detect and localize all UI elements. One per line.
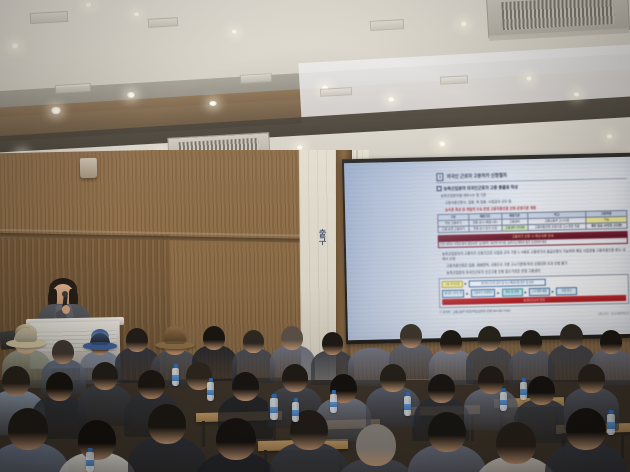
slide-paragraph: 농축산업분야의 고용허가 신청기간은 사업장 규모 기준 1~4회로 고용허가서…: [442, 247, 628, 261]
audience-hat: [164, 326, 186, 344]
bottle-label: [207, 390, 214, 396]
slide-table: 구분 제출기간 제출기관 비고 고용허용 일반 고용허가 연중 상시 (매월 1…: [437, 210, 627, 233]
table-cell: 일반 고용허가: [438, 220, 469, 227]
audience-head: [360, 328, 383, 353]
flow-step-box: 내국인 구인노력: [442, 290, 464, 298]
bottle-label: [607, 422, 615, 428]
bottle-label: [270, 407, 278, 414]
audience-head: [600, 330, 622, 354]
table-header-row: 구분 제출기간 제출기관 비고 고용허용: [438, 210, 627, 220]
slide-title-row: 1 외국인 근로자 고용허가 신청절차: [436, 169, 626, 181]
water-bottle: [270, 398, 278, 420]
audience-head: [148, 404, 186, 444]
audience-head: [138, 370, 165, 399]
flow-arrow-icon: ▶: [497, 291, 500, 295]
flow-start-box: 고용 허가신청: [442, 280, 463, 288]
audience-head: [232, 372, 259, 401]
flow-step-box: 고용허가 신청접수: [471, 289, 496, 297]
flow-header-box: 외국인근로자 정기 및 수시 배정신청 접수 및 심사: [469, 278, 546, 287]
recessed-downlight: [127, 92, 135, 97]
slide-title-rule: [436, 178, 626, 183]
audience-member: [566, 408, 630, 472]
ceiling: [0, 0, 630, 175]
audience-head: [78, 420, 116, 460]
bottle-cap: [331, 390, 335, 394]
audience-head: [282, 364, 308, 392]
flow-step-box: 사증 발급: [556, 287, 577, 295]
lecture-hall-photo: 출구 1 외국인 근로자 고용허가 신청절차 농축산업분야 외국인근로자 고용 …: [0, 0, 630, 472]
flow-arrow-icon: ▶: [524, 290, 527, 294]
table-cell: 연중 상시 (매월 1회): [469, 219, 502, 226]
audience-head: [440, 330, 462, 354]
bottle-label: [292, 410, 299, 416]
audience-head: [400, 324, 422, 348]
flow-arrow-icon: ▶: [552, 289, 555, 293]
slide-section-number: 1: [436, 173, 443, 181]
table-row: 고용 농업 고용허가 연중 상시 반기 신청 고용센터 지자체 고용허용인원 산…: [438, 222, 627, 232]
table-header-cell: 제출기간: [468, 213, 501, 220]
audience-head: [46, 372, 73, 401]
bottle-cap: [88, 448, 93, 452]
bottle-label: [172, 375, 179, 380]
bottle-label: [404, 404, 411, 410]
audience-hat: [15, 324, 37, 342]
audience-head: [528, 376, 555, 405]
water-bottle: [86, 452, 94, 472]
audience-head: [566, 408, 606, 450]
table-header-cell: 비고: [528, 211, 586, 218]
bottle-label: [520, 389, 527, 394]
microphone-head-icon: [62, 291, 68, 297]
flow-arrow-icon: ▶: [466, 291, 469, 295]
audience-head: [428, 374, 455, 403]
water-bottle: [404, 396, 411, 416]
slide-bullet: 고용허용인원수, 업종, 축 업종, 사업장의 규모 등: [445, 196, 627, 205]
ceiling-diffuser-vent: [440, 75, 468, 85]
audience-shoulders: [366, 386, 419, 428]
ceiling-diffuser-vent: [30, 11, 69, 24]
slide-banner-note: 신청 서류는 사업장 등록 증빙서류, 농지원부, 축산업 허가증, 표준근로계…: [438, 237, 628, 249]
audience-head: [356, 424, 396, 466]
audience-head: [520, 330, 542, 354]
recessed-downlight: [231, 30, 238, 35]
audience-hat: [91, 329, 109, 344]
exit-sign: 출구: [319, 228, 327, 246]
audience-head: [52, 340, 74, 364]
flow-step-box: 근로계약 체결: [529, 288, 550, 296]
table-cell: 고용센터: [501, 219, 528, 226]
water-bottle: [520, 382, 527, 400]
bottle-cap: [173, 364, 177, 368]
bottle-cap: [208, 378, 212, 382]
water-bottle: [172, 368, 179, 386]
recessed-downlight: [460, 21, 468, 26]
flow-top-row: 고용 허가신청 ▶ 외국인근로자 정기 및 수시 배정신청 접수 및 심사: [442, 277, 626, 289]
table-header-cell: 제출기관: [501, 213, 528, 220]
recessed-downlight: [209, 101, 216, 106]
ceiling-cassette-air-conditioner-right: [486, 0, 630, 38]
audience-head: [281, 326, 303, 350]
flow-arrow-icon: ▶: [465, 282, 468, 286]
ceiling-diffuser-vent: [370, 19, 405, 31]
water-bottle: [500, 392, 507, 411]
table-cell: 연중 상시 반기 신청: [469, 225, 502, 232]
recessed-downlight: [525, 76, 532, 81]
table-header-cell: 구분: [438, 214, 469, 221]
audience-head: [496, 422, 536, 464]
recessed-downlight: [84, 2, 93, 8]
slide-banner: 고용허가 신청 시 제출서류 안내: [438, 231, 628, 241]
table-cell: 고용 농업 고용허가: [438, 226, 469, 233]
bottle-cap: [293, 398, 297, 402]
water-bottle: [207, 382, 214, 401]
flow-steps-row: 내국인 구인노력 ▶ 고용허가 신청접수 ▶ 알선 및 선발 ▶ 근로계약 체결…: [442, 286, 626, 298]
water-bottle: [330, 394, 337, 413]
audience-head: [380, 364, 406, 392]
table-header-cell-highlight: 고용허용: [586, 210, 627, 217]
bottle-cap: [405, 392, 409, 396]
wall-mounted-loudspeaker: [80, 158, 97, 178]
audience-head: [478, 326, 501, 351]
audience-head: [560, 324, 583, 349]
audience-head: [2, 366, 30, 396]
bottle-label: [86, 460, 94, 466]
bottle-label: [500, 400, 507, 406]
water-bottle: [607, 414, 615, 435]
slide-title: 외국인 근로자 고용허가 신청절차: [447, 173, 507, 180]
table-cell: 고용허용인원 산정기준 고시개정 적용: [528, 223, 586, 230]
table-cell-highlight: 제한 없음 (사업장 규모별): [586, 222, 627, 229]
audience-head: [8, 408, 48, 450]
recessed-downlight: [10, 43, 20, 50]
bottle-cap: [521, 378, 525, 382]
slide-bullet: 농어촌 특성 및 계절적 수요 반영 고용허용인원 산정·운영기준 개정: [445, 202, 627, 211]
audience-head: [243, 330, 264, 353]
audience-head: [92, 362, 118, 390]
seated-audience: [0, 300, 630, 472]
bottle-cap: [609, 410, 614, 414]
audience-head: [578, 364, 605, 393]
audience-head: [322, 332, 343, 355]
recessed-downlight: [51, 107, 60, 113]
table-cell: 고용노동부 고시기준: [528, 217, 586, 224]
ac-grille: [501, 0, 614, 31]
ceiling-diffuser-vent: [240, 73, 272, 84]
bottle-cap: [272, 394, 277, 398]
audience-head: [428, 412, 466, 452]
audience-head: [126, 328, 148, 352]
audience-head: [216, 418, 256, 460]
slide-heading: 농축산업분야 외국인근로자 고용 총괄표 작성: [444, 184, 518, 192]
table-cell: 고용센터 지자체: [502, 225, 529, 232]
table-cell-highlight: 가능: [586, 216, 627, 223]
slide-heading-row: 농축산업분야 외국인근로자 고용 총괄표 작성: [437, 182, 627, 192]
flow-step-box: 알선 및 선발: [502, 288, 523, 296]
slide-paragraph: 농축산업분야 외국인근로자 신규고용 신청 접수기관은 관할 고용센터: [446, 266, 628, 275]
bottle-label: [330, 402, 337, 408]
water-bottle: [292, 402, 299, 422]
table-row: 일반 고용허가 연중 상시 (매월 1회) 고용센터 고용노동부 고시기준 가능: [438, 216, 627, 226]
audience-head: [203, 326, 225, 350]
ceiling-diffuser-vent: [148, 17, 178, 28]
audience-head: [478, 366, 504, 394]
recessed-downlight: [606, 134, 613, 139]
bottle-cap: [501, 388, 505, 392]
slide-bullet: 농축산업분야별 세부시수 및 기준: [441, 189, 627, 198]
bullet-square-icon: [437, 186, 442, 191]
slide-paragraph: 고용허용인원은 업종, 재배면적, 사육두수 기준 고시기준에 따라 산정되며 …: [446, 259, 628, 268]
